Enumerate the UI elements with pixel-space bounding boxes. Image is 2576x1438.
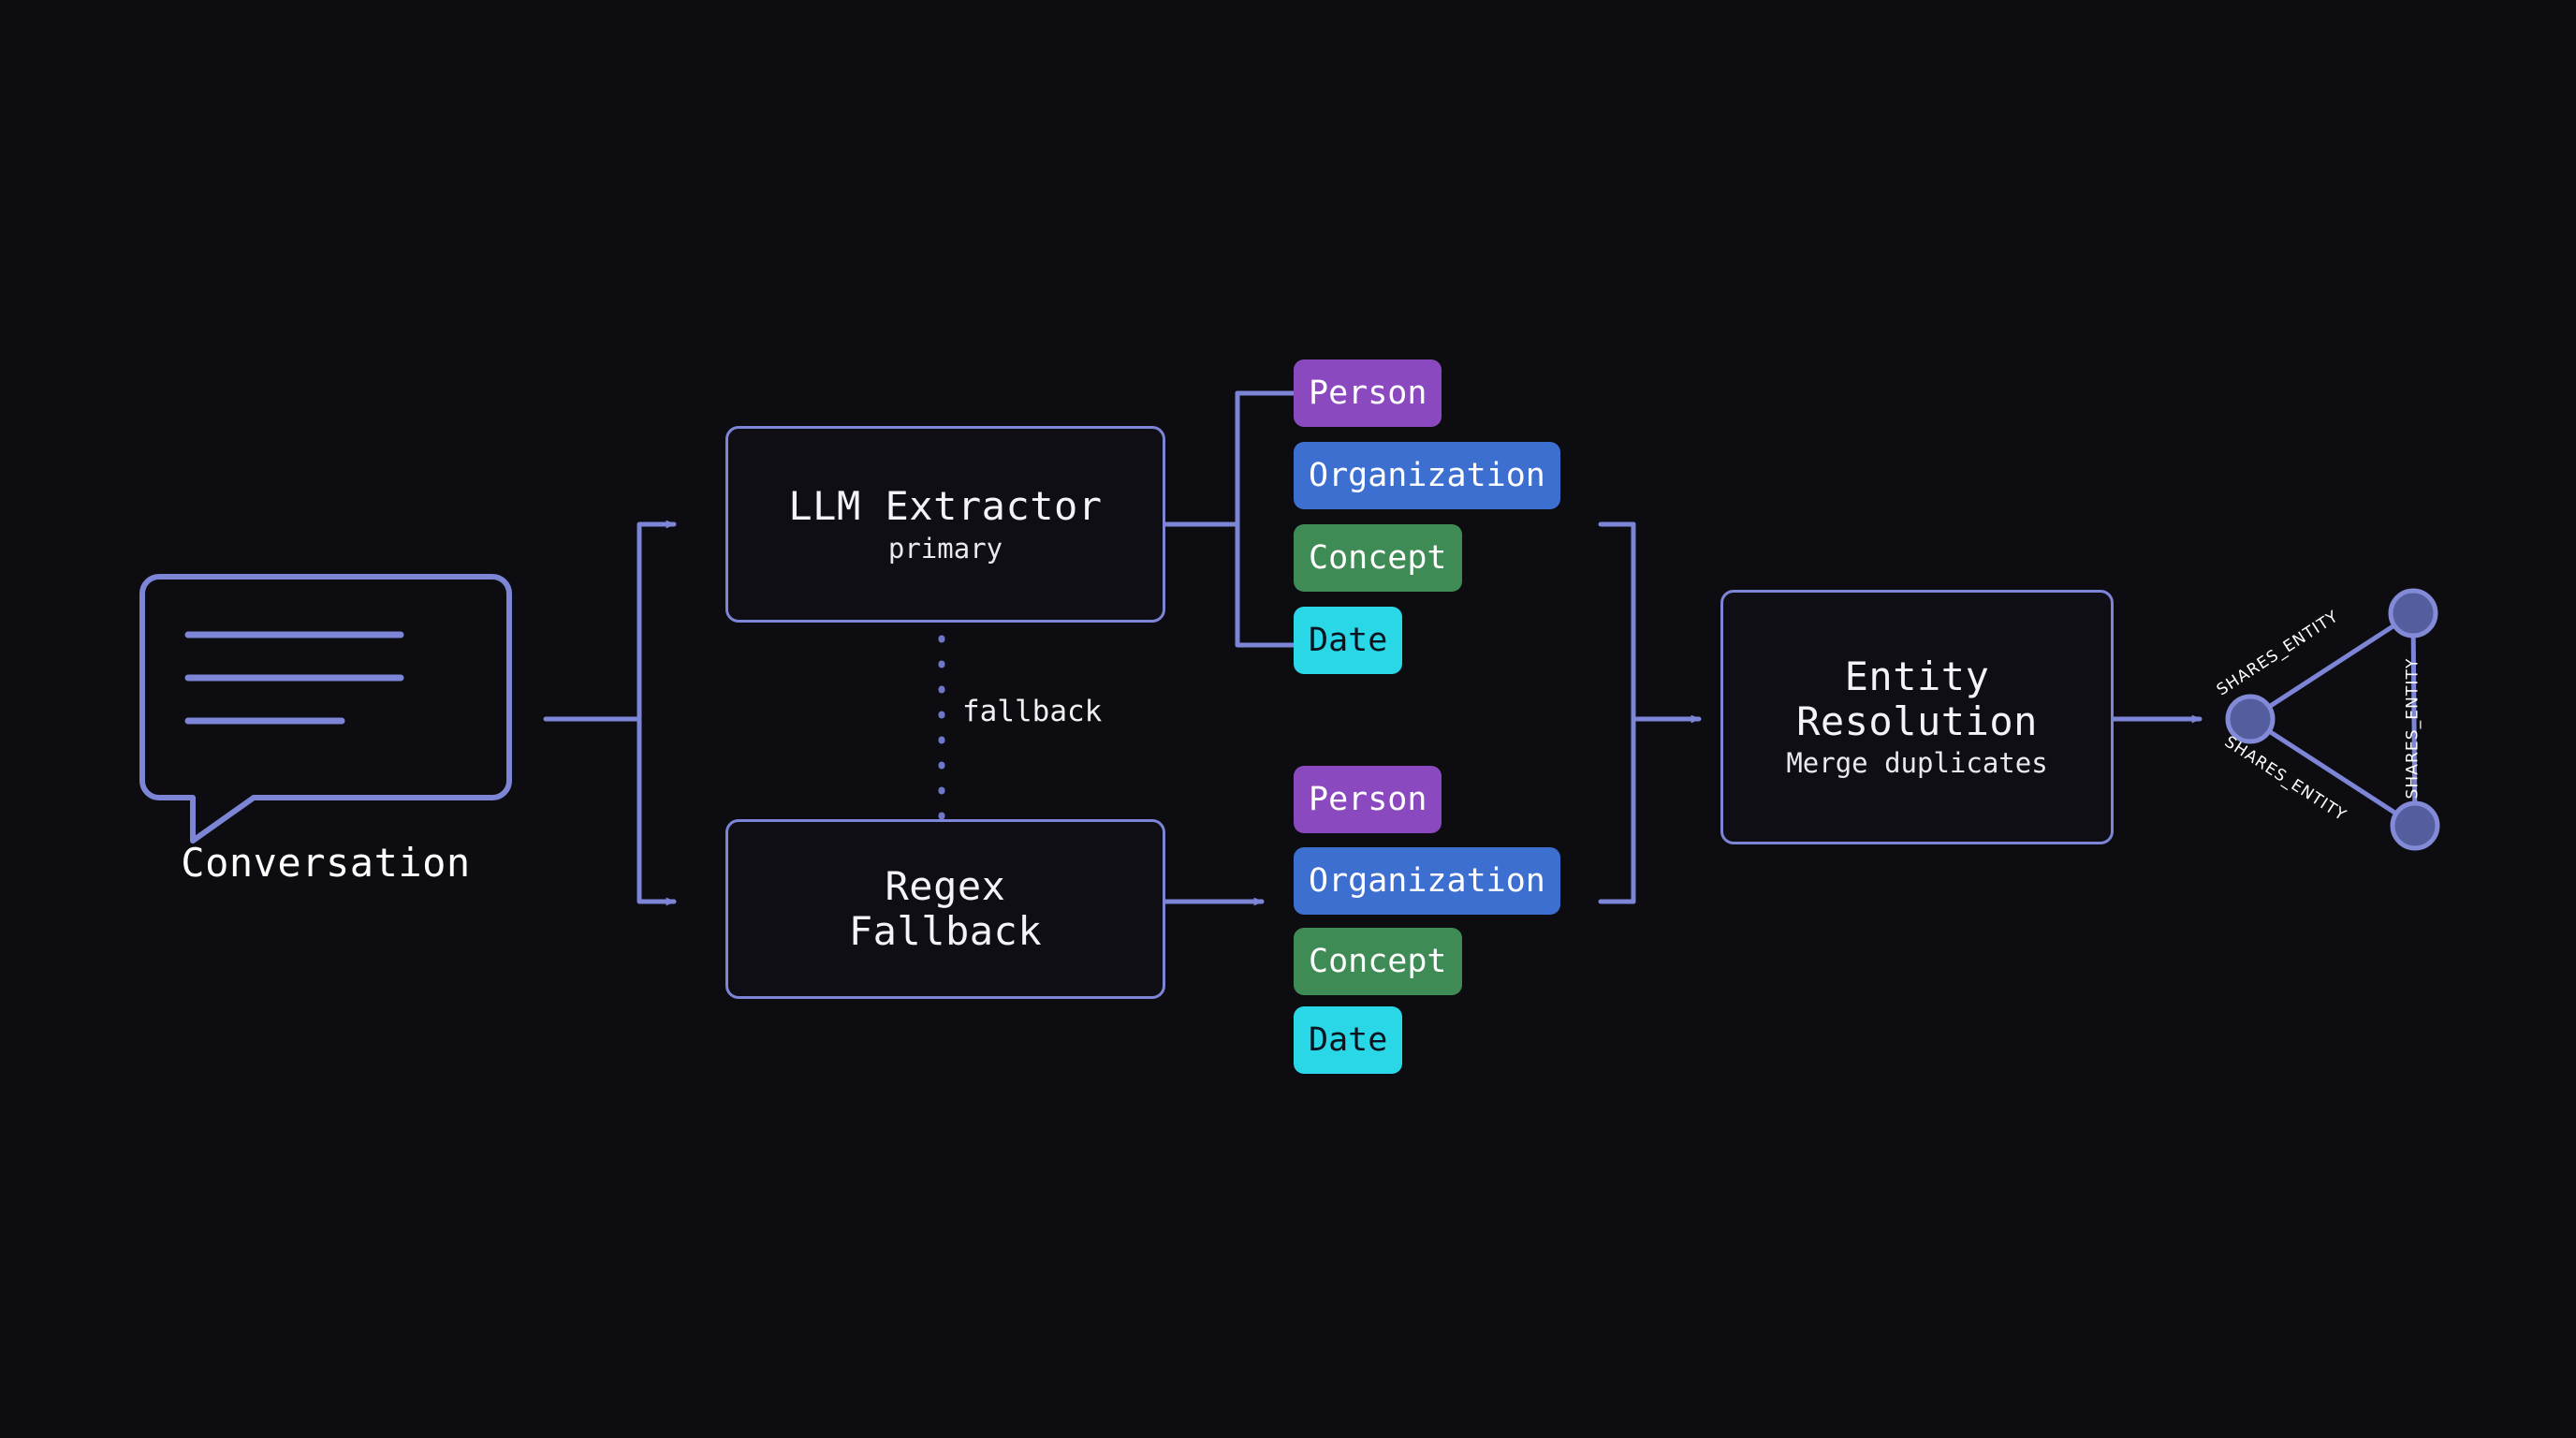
diagram-canvas: Conversation LLM Extractor primary Regex… (0, 0, 2576, 1438)
regex-fallback-box[interactable]: Regex Fallback (725, 819, 1165, 999)
conversation-source: Conversation (129, 573, 522, 844)
chip-label: Date (1309, 1024, 1387, 1057)
chip-label: Person (1309, 377, 1427, 410)
llm-extractor-subtitle: primary (888, 533, 1003, 565)
chip-organization-llm[interactable]: Organization (1294, 442, 1560, 509)
speech-bubble-icon (129, 573, 522, 844)
graph-node-bottom-right (2393, 803, 2437, 848)
entity-resolution-box[interactable]: Entity Resolution Merge duplicates (1720, 590, 2114, 844)
fallback-edge-label: fallback (962, 695, 1102, 728)
chip-label: Date (1309, 624, 1387, 657)
wire-split-down (639, 719, 674, 902)
chip-date-regex[interactable]: Date (1294, 1006, 1402, 1074)
chip-person-regex[interactable]: Person (1294, 766, 1442, 833)
chip-label: Organization (1309, 865, 1545, 898)
chip-organization-regex[interactable]: Organization (1294, 847, 1560, 915)
chip-concept-regex[interactable]: Concept (1294, 928, 1462, 995)
chip-person-llm[interactable]: Person (1294, 359, 1442, 427)
entity-resolution-subtitle: Merge duplicates (1786, 747, 2047, 780)
llm-extractor-title: LLM Extractor (788, 484, 1102, 529)
llm-extractor-box[interactable]: LLM Extractor primary (725, 426, 1165, 623)
graph-node-top-right (2391, 591, 2436, 636)
regex-fallback-title: Regex Fallback (849, 864, 1042, 954)
chip-date-llm[interactable]: Date (1294, 607, 1402, 674)
entity-resolution-title: Entity Resolution (1796, 654, 2038, 744)
chip-label: Concept (1309, 542, 1447, 575)
chip-label: Concept (1309, 946, 1447, 978)
wire-split-up (639, 524, 674, 719)
chip-label: Person (1309, 784, 1427, 816)
conversation-label: Conversation (101, 840, 550, 886)
chip-concept-llm[interactable]: Concept (1294, 524, 1462, 592)
knowledge-graph: SHARES_ENTITY SHARES_ENTITY SHARES_ENTIT… (2181, 562, 2481, 871)
graph-edge-label-right: SHARES_ENTITY (2403, 658, 2422, 800)
chip-label: Organization (1309, 460, 1545, 492)
